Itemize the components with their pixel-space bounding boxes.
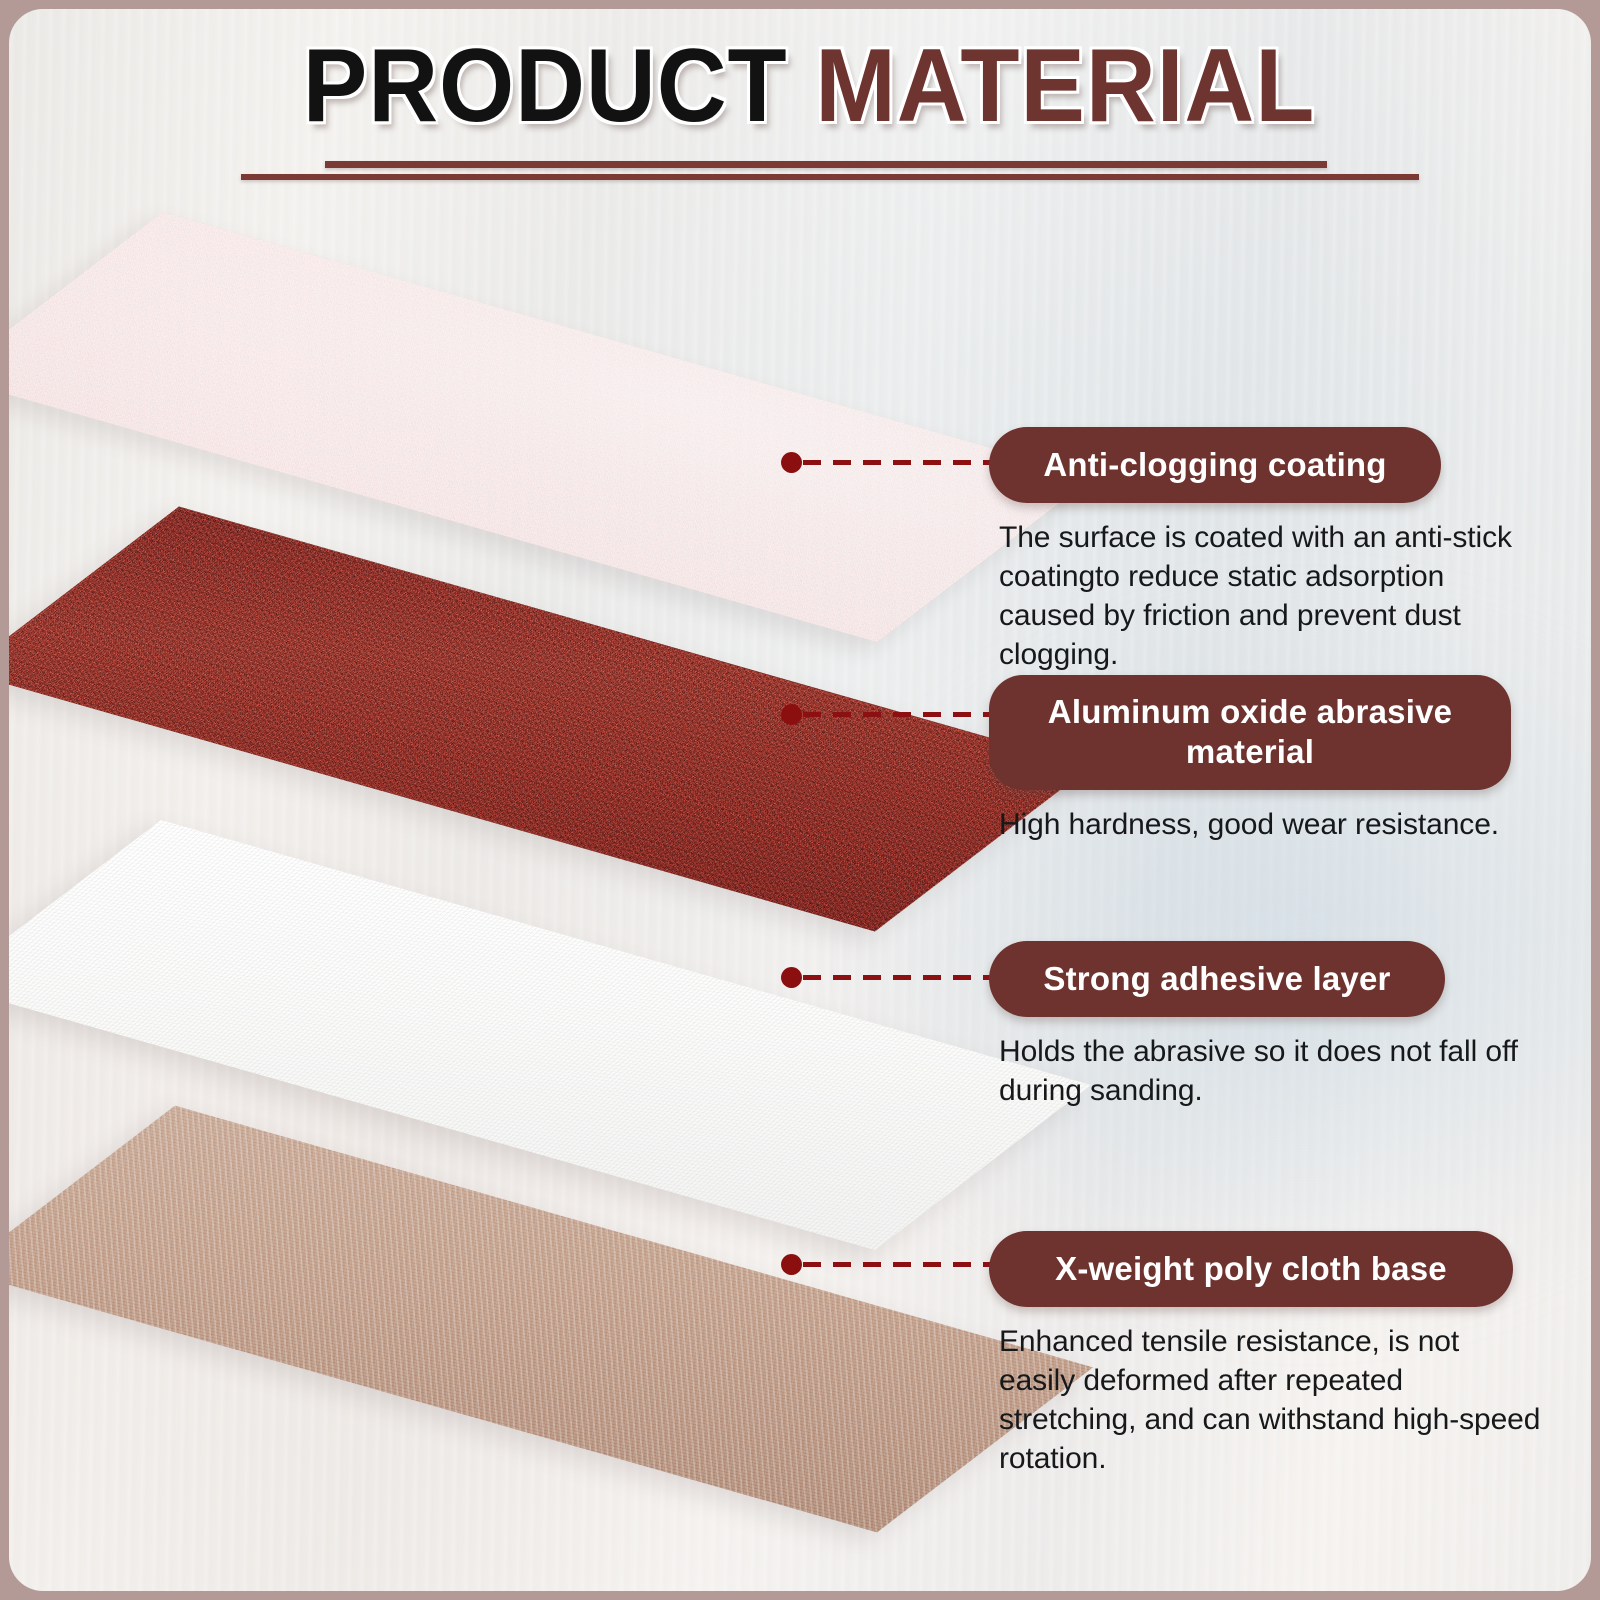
callout-title-badge-2: Aluminum oxide abrasive material [989,675,1511,790]
callout-description-1: The surface is coated with an anti-stick… [989,518,1549,674]
callout-poly-cloth-base: X-weight poly cloth base Enhanced tensil… [989,1231,1549,1478]
callout-description-2: High hardness, good wear resistance. [989,805,1549,844]
callout-aluminum-oxide-abrasive: Aluminum oxide abrasive material High ha… [989,675,1549,844]
title-space [787,28,815,144]
callout-group: Anti-clogging coating The surface is coa… [989,9,1549,1591]
callout-description-4: Enhanced tensile resistance, is not easi… [989,1322,1549,1478]
leader-dot-icon [781,1254,802,1275]
callout-anti-clogging-coating: Anti-clogging coating The surface is coa… [989,427,1549,674]
leader-dot-icon [781,704,802,725]
infographic-canvas: PRODUCT MATERIAL [0,0,1600,1600]
callout-title-badge-3: Strong adhesive layer [989,941,1445,1017]
callout-title-badge-1: Anti-clogging coating [989,427,1441,503]
page-title-part1: PRODUCT [303,28,788,144]
leader-dot-icon [781,967,802,988]
callout-title-badge-4: X-weight poly cloth base [989,1231,1513,1307]
callout-strong-adhesive-layer: Strong adhesive layer Holds the abrasive… [989,941,1549,1110]
content-panel: PRODUCT MATERIAL [9,9,1591,1591]
callout-description-3: Holds the abrasive so it does not fall o… [989,1032,1549,1110]
leader-dot-icon [781,452,802,473]
